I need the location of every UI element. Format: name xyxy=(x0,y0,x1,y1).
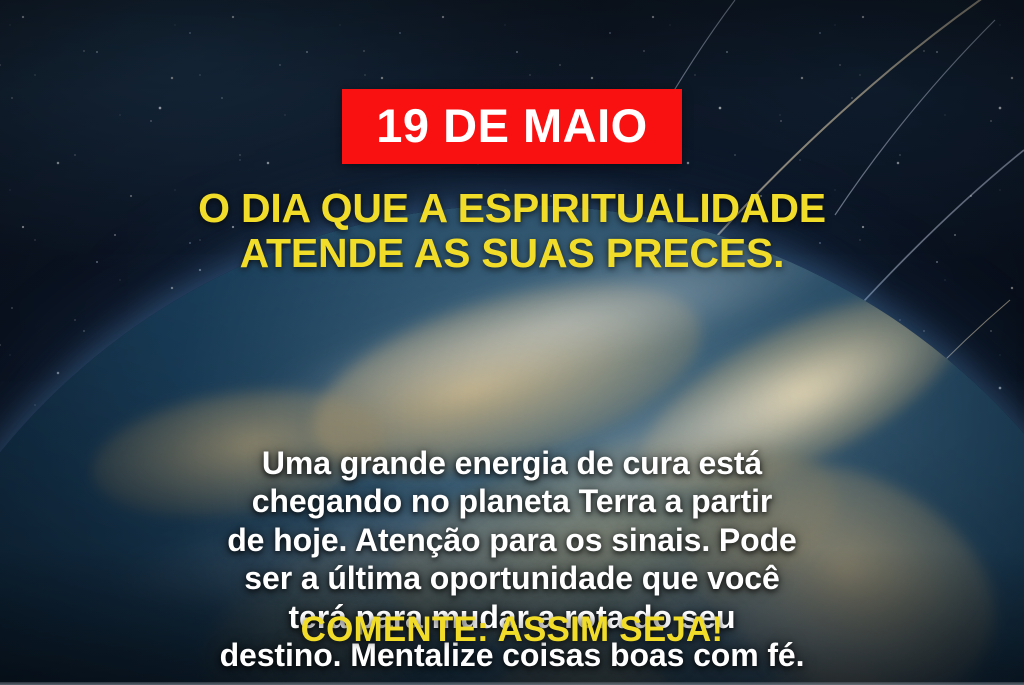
poster-canvas: 19 DE MAIO O DIA QUE A ESPIRITUALIDADE A… xyxy=(0,0,1024,685)
date-badge: 19 DE MAIO xyxy=(342,89,681,164)
headline-text: O DIA QUE A ESPIRITUALIDADE ATENDE AS SU… xyxy=(198,186,826,276)
call-to-action-text: COMENTE: ASSIM SEJA! xyxy=(301,612,724,647)
